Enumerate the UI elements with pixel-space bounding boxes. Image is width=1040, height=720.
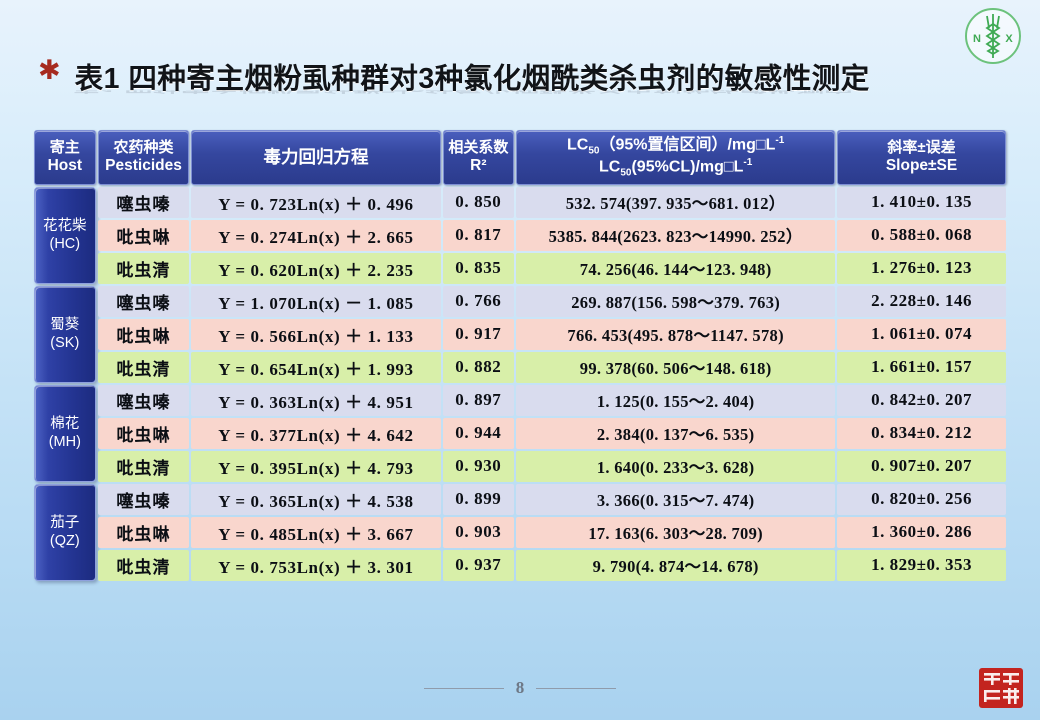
slope-cell: 0. 907±0. 207 [837,451,1006,482]
header-r2-en: R² [446,157,512,175]
footer-rule-right [536,688,616,689]
sensitivity-table-wrap: 寄主 Host 农药种类 Pesticides 毒力回归方程 相关系数 R² L… [32,128,1008,583]
equation-cell: Y = 0. 377Ln(x) ＋ 4. 642 [191,418,440,449]
footer: 8 [0,674,1040,702]
host-cell: 茄子(QZ) [34,484,96,581]
lc50-cell: 3. 366(0. 315～7. 474) [516,484,835,515]
lc50-cell: 74. 256(46. 144～123. 948) [516,253,835,284]
page-title: ✱ 表1 四种寄主烟粉虱种群对3种氯化烟酰类杀虫剂的敏感性测定 [38,50,1003,102]
slope-cell: 1. 410±0. 135 [837,187,1006,218]
asterisk-bullet-icon: ✱ [38,57,61,84]
slope-cell: 1. 829±0. 353 [837,550,1006,581]
r2-cell: 0. 903 [443,517,515,548]
slope-cell: 0. 588±0. 068 [837,220,1006,251]
table-body: 花花柴(HC)噻虫嗪Y = 0. 723Ln(x) ＋ 0. 4960. 850… [34,187,1006,581]
host-name-cn: 蜀葵 [35,316,95,334]
header-lc50-cn: LC50（95%置信区间）/mg□L-1 [519,135,832,157]
footer-rule-left [424,688,504,689]
r2-cell: 0. 835 [443,253,515,284]
header-r2: 相关系数 R² [443,130,515,185]
pesticide-cell: 吡虫啉 [98,418,190,449]
table-row: 蜀葵(SK)噻虫嗪Y = 1. 070Ln(x) － 1. 0850. 7662… [34,286,1006,317]
pesticide-cell: 吡虫啉 [98,517,190,548]
pesticide-cell: 噻虫嗪 [98,385,190,416]
header-equation: 毒力回归方程 [191,130,440,185]
equation-cell: Y = 0. 395Ln(x) ＋ 4. 793 [191,451,440,482]
r2-cell: 0. 897 [443,385,515,416]
header-lc50-en: LC50(95%CL)/mg□L-1 [519,157,832,179]
table-row: 吡虫啉Y = 0. 377Ln(x) ＋ 4. 6420. 9442. 384(… [34,418,1006,449]
r2-cell: 0. 899 [443,484,515,515]
lc50-cell: 269. 887(156. 598～379. 763) [516,286,835,317]
equation-cell: Y = 0. 363Ln(x) ＋ 4. 951 [191,385,440,416]
lc50-cell: 5385. 844(2623. 823～14990. 252） [516,220,835,251]
equation-cell: Y = 0. 620Ln(x) ＋ 2. 235 [191,253,440,284]
equation-cell: Y = 0. 274Ln(x) ＋ 2. 665 [191,220,440,251]
table-header-row: 寄主 Host 农药种类 Pesticides 毒力回归方程 相关系数 R² L… [34,130,1006,185]
header-host-cn: 寄主 [37,139,93,157]
table-row: 棉花(MH)噻虫嗪Y = 0. 363Ln(x) ＋ 4. 9510. 8971… [34,385,1006,416]
equation-cell: Y = 0. 485Ln(x) ＋ 3. 667 [191,517,440,548]
host-cell: 蜀葵(SK) [34,286,96,383]
r2-cell: 0. 882 [443,352,515,383]
equation-cell: Y = 0. 753Ln(x) ＋ 3. 301 [191,550,440,581]
pesticide-cell: 吡虫清 [98,352,190,383]
host-name-en: (MH) [35,433,95,451]
sensitivity-table: 寄主 Host 农药种类 Pesticides 毒力回归方程 相关系数 R² L… [32,128,1008,583]
pesticide-cell: 吡虫清 [98,550,190,581]
pesticide-cell: 吡虫清 [98,451,190,482]
host-name-cn: 花花柴 [35,217,95,235]
table-row: 吡虫清Y = 0. 395Ln(x) ＋ 4. 7930. 9301. 640(… [34,451,1006,482]
r2-cell: 0. 817 [443,220,515,251]
page-title-text: 表1 四种寄主烟粉虱种群对3种氯化烟酰类杀虫剂的敏感性测定 [75,56,870,97]
r2-cell: 0. 766 [443,286,515,317]
org-logo-right-letter: X [1005,33,1013,45]
page-number: 8 [516,678,525,698]
slope-cell: 1. 360±0. 286 [837,517,1006,548]
lc50-cell: 99. 378(60. 506～148. 618) [516,352,835,383]
header-pesticides-cn: 农药种类 [101,139,187,157]
pesticide-cell: 噻虫嗪 [98,484,190,515]
r2-cell: 0. 917 [443,319,515,350]
header-slope-en: Slope±SE [840,157,1003,175]
table-row: 吡虫啉Y = 0. 485Ln(x) ＋ 3. 6670. 90317. 163… [34,517,1006,548]
pesticide-cell: 噻虫嗪 [98,286,190,317]
equation-cell: Y = 0. 365Ln(x) ＋ 4. 538 [191,484,440,515]
org-logo-left-letter: N [973,33,981,45]
host-name-en: (HC) [35,235,95,253]
slope-cell: 1. 661±0. 157 [837,352,1006,383]
lc50-cell: 1. 125(0. 155～2. 404) [516,385,835,416]
header-pesticides-en: Pesticides [101,157,187,175]
table-row: 吡虫清Y = 0. 620Ln(x) ＋ 2. 2350. 83574. 256… [34,253,1006,284]
pesticide-cell: 噻虫嗪 [98,187,190,218]
r2-cell: 0. 850 [443,187,515,218]
equation-cell: Y = 1. 070Ln(x) － 1. 085 [191,286,440,317]
lc50-cell: 17. 163(6. 303～28. 709) [516,517,835,548]
table-row: 茄子(QZ)噻虫嗪Y = 0. 365Ln(x) ＋ 4. 5380. 8993… [34,484,1006,515]
host-cell: 花花柴(HC) [34,187,96,284]
host-name-cn: 茄子 [35,514,95,532]
lc50-cell: 2. 384(0. 137～6. 535) [516,418,835,449]
slope-cell: 1. 061±0. 074 [837,319,1006,350]
lc50-cell: 532. 574(397. 935～681. 012） [516,187,835,218]
r2-cell: 0. 930 [443,451,515,482]
slope-cell: 0. 834±0. 212 [837,418,1006,449]
r2-cell: 0. 937 [443,550,515,581]
header-host: 寄主 Host [34,130,96,185]
red-seal-logo [972,664,1030,712]
slope-cell: 2. 228±0. 146 [837,286,1006,317]
header-equation-cn: 毒力回归方程 [194,147,437,168]
table-row: 吡虫清Y = 0. 654Ln(x) ＋ 1. 9930. 88299. 378… [34,352,1006,383]
host-name-cn: 棉花 [35,415,95,433]
lc50-cell: 766. 453(495. 878～1147. 578) [516,319,835,350]
equation-cell: Y = 0. 654Ln(x) ＋ 1. 993 [191,352,440,383]
equation-cell: Y = 0. 723Ln(x) ＋ 0. 496 [191,187,440,218]
header-pesticides: 农药种类 Pesticides [98,130,190,185]
slope-cell: 1. 276±0. 123 [837,253,1006,284]
host-name-en: (QZ) [35,532,95,550]
host-name-en: (SK) [35,334,95,352]
header-host-en: Host [37,157,93,175]
r2-cell: 0. 944 [443,418,515,449]
header-slope: 斜率±误差 Slope±SE [837,130,1006,185]
slope-cell: 0. 820±0. 256 [837,484,1006,515]
header-lc50: LC50（95%置信区间）/mg□L-1 LC50(95%CL)/mg□L-1 [516,130,835,185]
table-row: 吡虫清Y = 0. 753Ln(x) ＋ 3. 3010. 9379. 790(… [34,550,1006,581]
table-row: 吡虫啉Y = 0. 274Ln(x) ＋ 2. 6650. 8175385. 8… [34,220,1006,251]
table-row: 花花柴(HC)噻虫嗪Y = 0. 723Ln(x) ＋ 0. 4960. 850… [34,187,1006,218]
slope-cell: 0. 842±0. 207 [837,385,1006,416]
header-r2-cn: 相关系数 [446,139,512,157]
equation-cell: Y = 0. 566Ln(x) ＋ 1. 133 [191,319,440,350]
host-cell: 棉花(MH) [34,385,96,482]
pesticide-cell: 吡虫啉 [98,220,190,251]
lc50-cell: 1. 640(0. 233～3. 628) [516,451,835,482]
pesticide-cell: 吡虫啉 [98,319,190,350]
header-slope-cn: 斜率±误差 [840,139,1003,157]
pesticide-cell: 吡虫清 [98,253,190,284]
table-row: 吡虫啉Y = 0. 566Ln(x) ＋ 1. 1330. 917766. 45… [34,319,1006,350]
lc50-cell: 9. 790(4. 874～14. 678) [516,550,835,581]
